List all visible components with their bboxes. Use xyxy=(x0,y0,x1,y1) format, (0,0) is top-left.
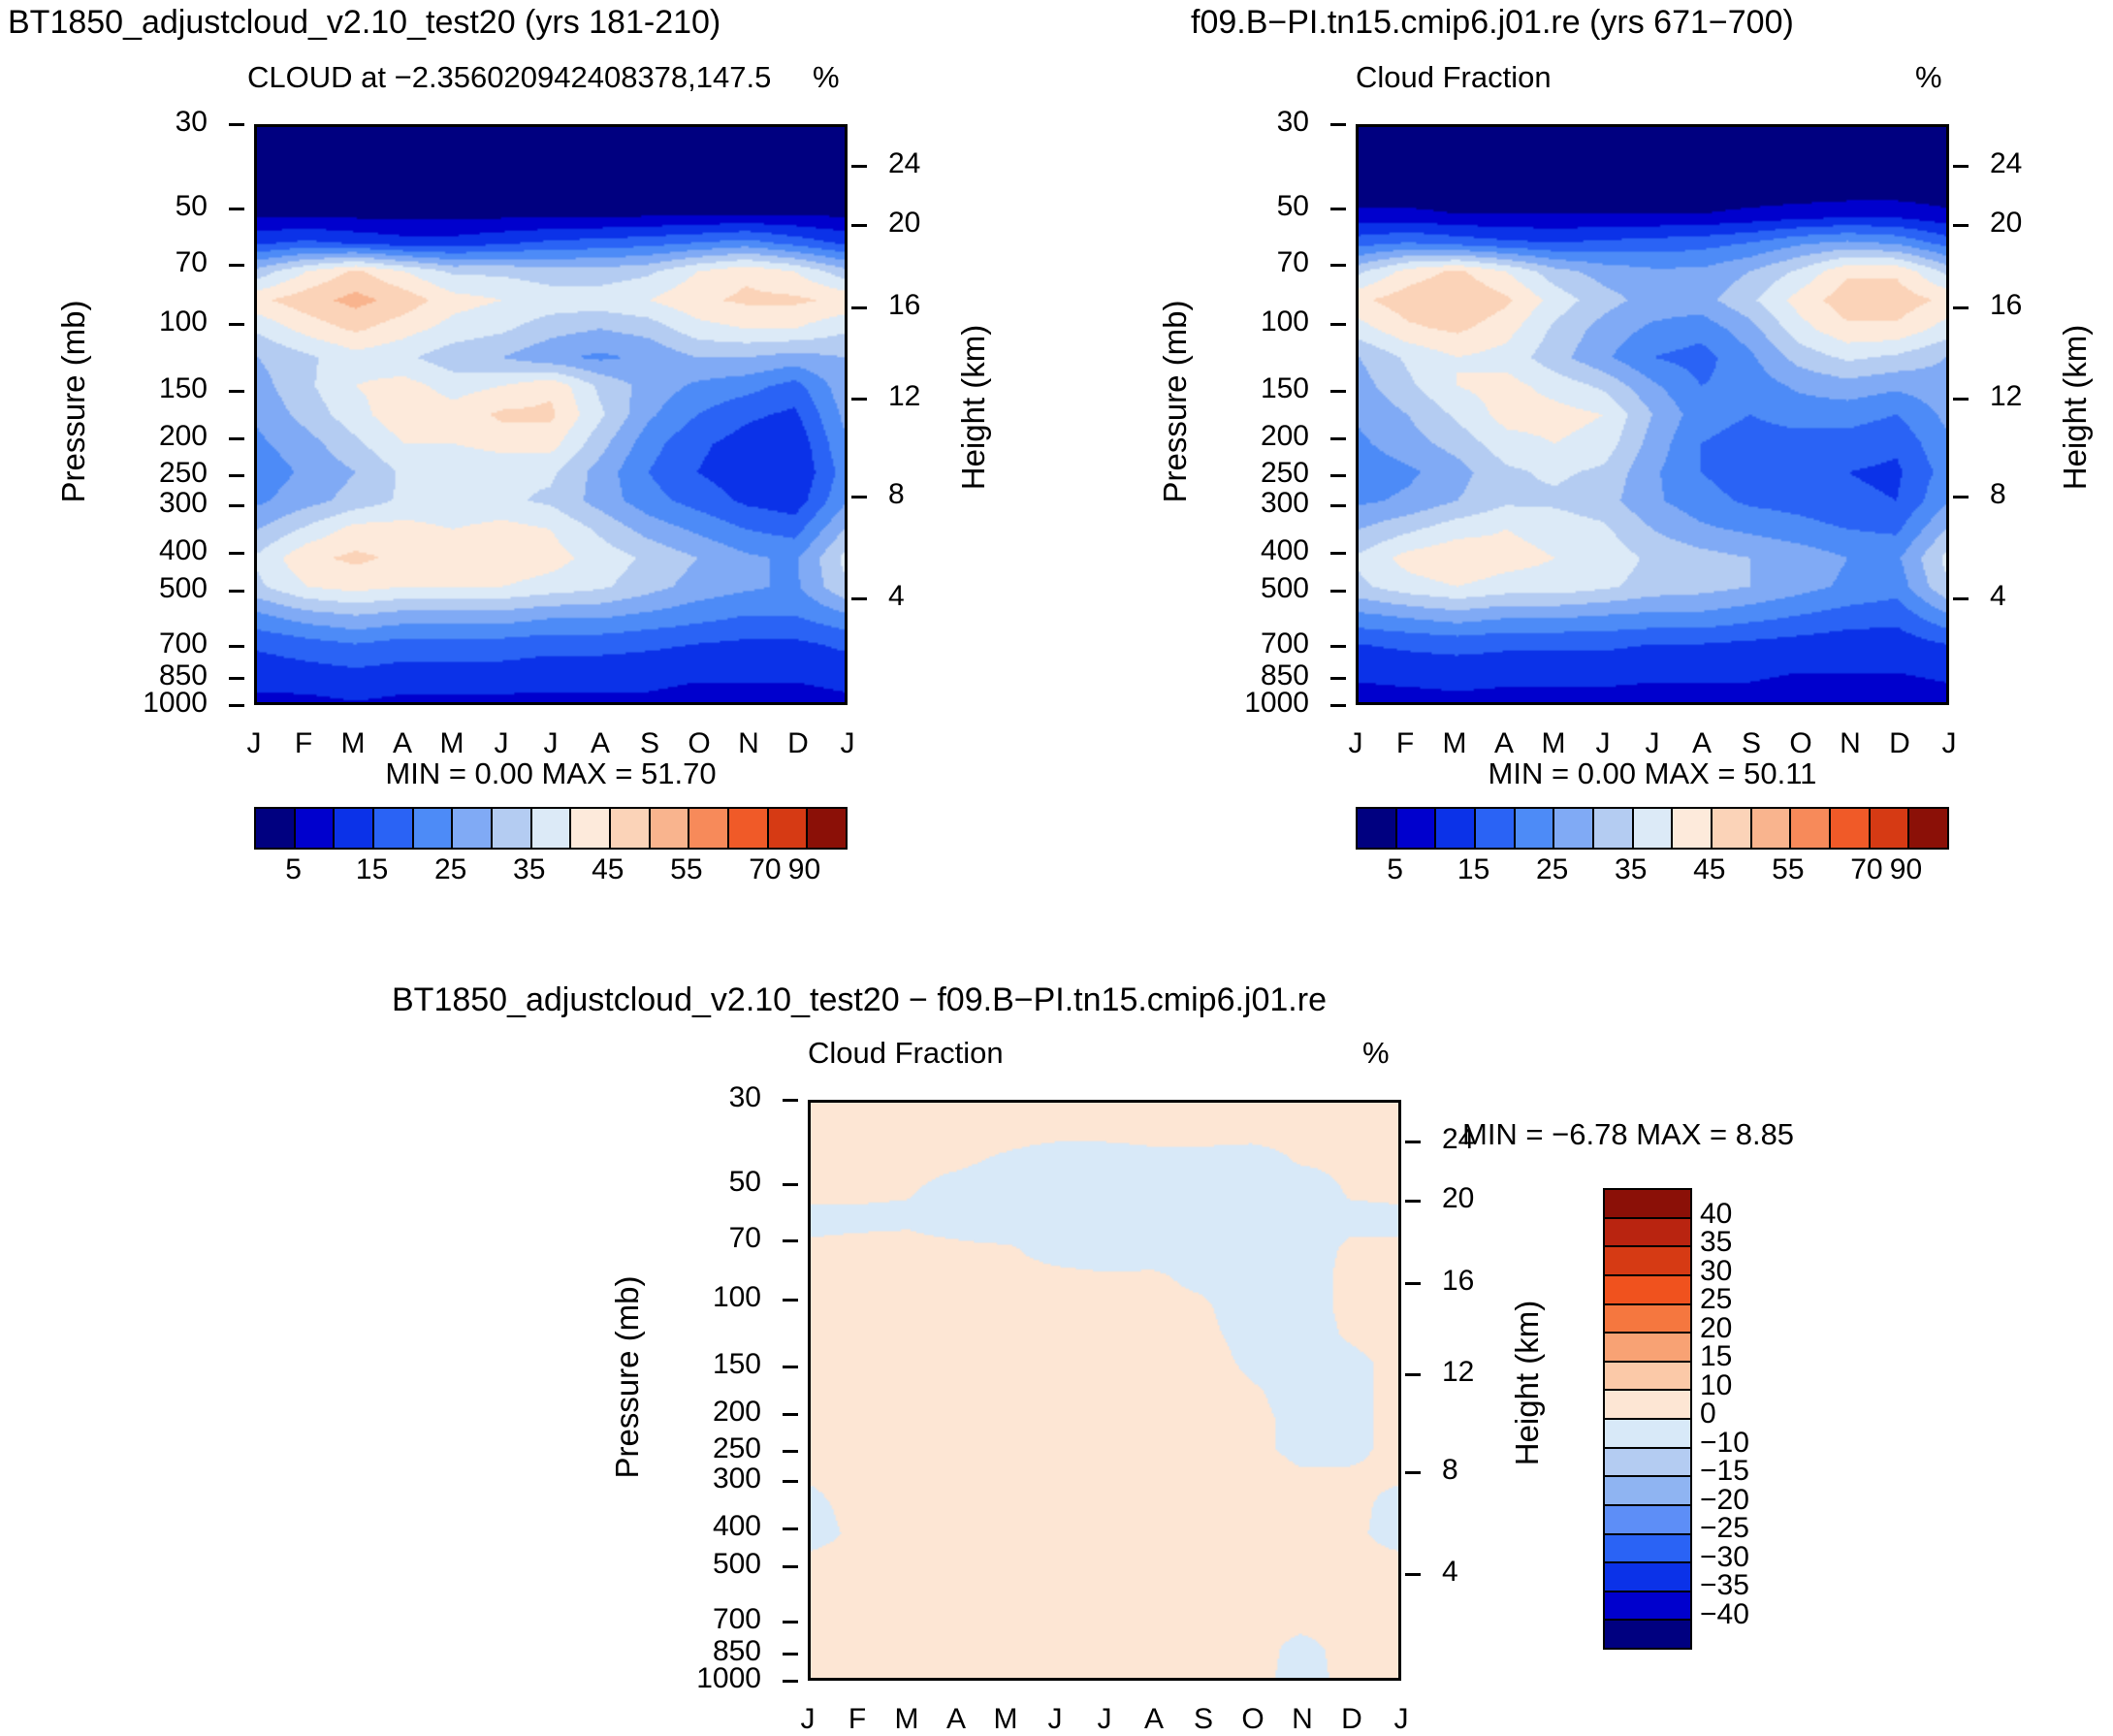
colorbar-swatch xyxy=(769,809,809,848)
colorbar-horizontal-top-right[interactable] xyxy=(1356,807,1949,850)
axis-tick xyxy=(696,124,699,125)
contour-field-bottom xyxy=(811,1103,1398,1678)
axis-tick xyxy=(844,124,847,125)
axis-tick xyxy=(794,124,797,125)
colorbar-swatch xyxy=(689,809,729,848)
plot-area-top-left[interactable] xyxy=(254,124,848,705)
axis-tick xyxy=(229,208,244,210)
month-tick-label: J xyxy=(1098,1703,1112,1736)
axis-tick-label: 400 xyxy=(713,1510,761,1543)
axis-tick-label: 24 xyxy=(888,147,920,180)
colorbar-tick-label: 25 xyxy=(434,853,466,886)
axis-tick-label: 4 xyxy=(1990,580,2006,613)
axis-tick xyxy=(452,124,455,125)
colorbar-tick-label: 15 xyxy=(356,853,388,886)
axis-tick-label: 12 xyxy=(1990,380,2022,413)
month-tick-label: F xyxy=(295,727,312,760)
axis-tick-label: 500 xyxy=(159,572,208,605)
axis-tick xyxy=(1330,704,1346,707)
axis-tick xyxy=(1798,704,1801,705)
axis-tick xyxy=(1201,1100,1204,1101)
colorbar-tick-label: 90 xyxy=(788,853,820,886)
axis-tick-label: 100 xyxy=(1261,305,1309,338)
axis-tick xyxy=(1953,496,1969,498)
axis-tick xyxy=(858,1680,861,1681)
colorbar-swatch xyxy=(1554,809,1594,848)
axis-tick xyxy=(1953,398,1969,401)
axis-tick xyxy=(229,552,244,555)
axis-tick xyxy=(229,323,244,326)
colorbar-swatch xyxy=(571,809,611,848)
colorbar-swatch xyxy=(1831,809,1871,848)
axis-tick xyxy=(1405,1573,1421,1576)
month-tick-label: D xyxy=(1341,1703,1362,1736)
axis-tick xyxy=(648,704,651,705)
axis-tick xyxy=(598,124,601,125)
axis-tick xyxy=(452,704,455,705)
axis-tick-label: 8 xyxy=(1990,478,2006,511)
axis-tick xyxy=(1504,704,1507,705)
month-tick-label: A xyxy=(1144,1703,1164,1736)
axis-tick xyxy=(354,704,357,705)
axis-tick xyxy=(1953,224,1969,227)
colorbar-swatch xyxy=(1605,1477,1690,1506)
axis-tick-label: 500 xyxy=(713,1548,761,1581)
axis-tick-label: 20 xyxy=(1442,1182,1474,1215)
colorbar-swatch xyxy=(1909,809,1947,848)
colorbar-horizontal-top-left[interactable] xyxy=(254,807,848,850)
contour-field-top-right xyxy=(1359,127,1946,702)
axis-tick-label: 70 xyxy=(176,246,208,279)
axis-tick-label: 30 xyxy=(1277,106,1309,139)
axis-tick xyxy=(1405,1200,1421,1203)
month-tick-label: J xyxy=(1394,1703,1409,1736)
axis-tick xyxy=(1358,124,1361,125)
month-tick-label: M xyxy=(341,727,366,760)
month-tick-label: J xyxy=(1942,727,1957,760)
axis-tick xyxy=(1953,165,1969,168)
axis-tick xyxy=(851,398,867,401)
colorbar-swatch xyxy=(1605,1621,1690,1648)
panel-bottom-title: BT1850_adjustcloud_v2.10_test20 − f09.B−… xyxy=(392,981,1327,1019)
pressure-axis-bottom: 3050701001502002503004005007008501000 xyxy=(699,1100,783,1681)
colorbar-swatch xyxy=(1476,809,1516,848)
month-tick-label: O xyxy=(1241,1703,1264,1736)
axis-tick xyxy=(229,437,244,440)
axis-tick xyxy=(956,1100,959,1101)
axis-tick xyxy=(402,124,405,125)
axis-tick-label: 16 xyxy=(888,289,920,322)
colorbar-swatch xyxy=(1605,1190,1690,1219)
axis-tick xyxy=(1896,704,1899,705)
panel-top-right-title: f09.B−PI.tn15.cmip6.j01.re (yrs 671−700) xyxy=(1191,4,1794,42)
axis-left-title-top-left: Pressure (mb) xyxy=(55,300,92,502)
colorbar-tick-label: 35 xyxy=(513,853,545,886)
colorbar-swatch xyxy=(651,809,690,848)
colorbar-swatch xyxy=(414,809,454,848)
axis-tick-label: 4 xyxy=(1442,1556,1458,1589)
axis-tick xyxy=(1945,124,1948,125)
colorbar-swatch xyxy=(1605,1247,1690,1276)
colorbar-tick-label: −40 xyxy=(1700,1598,1749,1631)
axis-tick xyxy=(1651,704,1654,705)
axis-tick xyxy=(783,1480,798,1483)
month-tick-label: J xyxy=(1596,727,1611,760)
axis-tick xyxy=(402,704,405,705)
month-tick-label: S xyxy=(640,727,659,760)
axis-tick xyxy=(229,264,244,267)
axis-tick xyxy=(783,1413,798,1416)
axis-tick xyxy=(794,704,797,705)
axis-tick xyxy=(1330,590,1346,593)
axis-tick xyxy=(851,496,867,498)
colorbar-swatch xyxy=(296,809,336,848)
axis-tick xyxy=(1553,704,1556,705)
axis-tick-label: 8 xyxy=(888,478,905,511)
colorbar-swatch xyxy=(1516,809,1555,848)
axis-tick xyxy=(256,124,259,125)
month-tick-label: M xyxy=(440,727,464,760)
axis-tick xyxy=(1847,124,1850,125)
axis-tick xyxy=(1330,474,1346,477)
axis-tick-label: 1000 xyxy=(696,1662,761,1695)
colorbar-swatch xyxy=(1791,809,1831,848)
colorbar-swatch xyxy=(611,809,651,848)
axis-tick xyxy=(1700,124,1703,125)
axis-tick xyxy=(1152,1100,1155,1101)
axis-tick-label: 200 xyxy=(159,420,208,453)
axis-tick xyxy=(500,704,503,705)
colorbar-swatch xyxy=(1673,809,1713,848)
axis-tick xyxy=(1348,1680,1351,1681)
colorbar-swatch xyxy=(1605,1506,1690,1535)
month-tick-label: J xyxy=(1349,727,1363,760)
colorbar-tick-label: 45 xyxy=(1693,853,1725,886)
axis-tick xyxy=(1405,1471,1421,1474)
axis-tick xyxy=(1250,1100,1253,1101)
colorbar-swatch xyxy=(1871,809,1910,848)
axis-tick-label: 300 xyxy=(159,487,208,520)
colorbar-swatch xyxy=(1605,1592,1690,1622)
axis-tick-label: 8 xyxy=(1442,1454,1458,1487)
axis-tick xyxy=(1330,323,1346,326)
colorbar-swatch xyxy=(1605,1535,1690,1564)
axis-tick xyxy=(229,590,244,593)
axis-tick xyxy=(783,1680,798,1683)
axis-tick xyxy=(1299,1100,1302,1101)
axis-tick xyxy=(256,704,259,705)
month-tick-label: J xyxy=(801,1703,816,1736)
axis-right-title-top-left: Height (km) xyxy=(955,325,992,491)
axis-tick xyxy=(844,704,847,705)
plot-area-top-right[interactable] xyxy=(1356,124,1949,705)
colorbar-tick-label: 15 xyxy=(1457,853,1489,886)
month-tick-label: O xyxy=(1789,727,1811,760)
axis-tick-label: 700 xyxy=(1261,627,1309,660)
axis-tick xyxy=(1896,124,1899,125)
axis-tick xyxy=(1651,124,1654,125)
height-axis-top-right: 2420161284 xyxy=(1969,124,2052,705)
axis-tick-label: 16 xyxy=(1442,1265,1474,1298)
axis-tick xyxy=(810,1680,813,1681)
axis-tick xyxy=(229,504,244,507)
month-tick-label: N xyxy=(738,727,759,760)
axis-tick xyxy=(1330,437,1346,440)
axis-tick xyxy=(304,124,307,125)
month-tick-label: A xyxy=(1494,727,1514,760)
axis-tick-label: 200 xyxy=(713,1396,761,1429)
axis-tick xyxy=(1798,124,1801,125)
axis-tick-label: 250 xyxy=(713,1432,761,1465)
axis-tick xyxy=(1602,704,1605,705)
axis-tick xyxy=(956,1680,959,1681)
colorbar-swatch xyxy=(1605,1563,1690,1592)
panel-top-right-units: % xyxy=(1915,60,1942,95)
colorbar-swatch xyxy=(1605,1391,1690,1420)
month-tick-label: F xyxy=(1396,727,1414,760)
panel-bottom-subtitle: Cloud Fraction xyxy=(808,1036,1004,1071)
axis-tick-label: 50 xyxy=(176,190,208,223)
colorbar-swatch xyxy=(1605,1449,1690,1478)
axis-tick xyxy=(783,1239,798,1242)
colorbar-swatch xyxy=(1605,1305,1690,1334)
colorbar-swatch xyxy=(1605,1363,1690,1392)
axis-tick xyxy=(1504,124,1507,125)
axis-tick-label: 1000 xyxy=(143,687,208,720)
month-tick-label: F xyxy=(848,1703,866,1736)
axis-tick xyxy=(858,1100,861,1101)
colorbar-tick-label: 45 xyxy=(592,853,624,886)
axis-tick xyxy=(229,677,244,680)
axis-tick xyxy=(810,1100,813,1101)
axis-tick-label: 30 xyxy=(176,106,208,139)
axis-tick xyxy=(746,124,749,125)
month-tick-label: A xyxy=(1692,727,1712,760)
axis-tick-label: 1000 xyxy=(1244,687,1309,720)
axis-tick xyxy=(1749,704,1752,705)
month-tick-label: A xyxy=(591,727,610,760)
axis-tick xyxy=(1330,504,1346,507)
axis-tick-label: 300 xyxy=(713,1463,761,1495)
axis-tick xyxy=(1330,123,1346,126)
axis-tick-label: 24 xyxy=(1990,147,2022,180)
month-tick-label: S xyxy=(1194,1703,1213,1736)
axis-tick xyxy=(1456,704,1458,705)
axis-tick-label: 400 xyxy=(1261,534,1309,567)
axis-tick xyxy=(1330,264,1346,267)
axis-tick-label: 500 xyxy=(1261,572,1309,605)
month-tick-label: M xyxy=(1443,727,1467,760)
axis-tick-label: 50 xyxy=(729,1166,761,1199)
pressure-axis-top-left: 3050701001502002503004005007008501000 xyxy=(145,124,229,705)
axis-tick xyxy=(1104,1680,1106,1681)
month-tick-label: N xyxy=(1840,727,1861,760)
axis-tick xyxy=(1397,1680,1400,1681)
axis-tick xyxy=(783,1527,798,1530)
axis-tick-label: 70 xyxy=(729,1222,761,1255)
axis-tick xyxy=(783,1621,798,1623)
colorbar-swatch xyxy=(1713,809,1752,848)
axis-tick-label: 16 xyxy=(1990,289,2022,322)
axis-tick xyxy=(1847,704,1850,705)
axis-tick xyxy=(1054,1100,1057,1101)
axis-tick xyxy=(1405,1141,1421,1143)
axis-tick-label: 250 xyxy=(1261,457,1309,490)
colorbar-swatch xyxy=(1605,1420,1690,1449)
panel-top-right-subtitle: Cloud Fraction xyxy=(1356,60,1552,95)
axis-tick-label: 4 xyxy=(888,580,905,613)
axis-tick xyxy=(1152,1680,1155,1681)
axis-tick xyxy=(1406,704,1409,705)
axis-tick-label: 12 xyxy=(1442,1356,1474,1389)
minmax-label-top-left: MIN = 0.00 MAX = 51.70 xyxy=(254,756,848,791)
axis-tick xyxy=(1006,1100,1008,1101)
month-tick-label: M xyxy=(994,1703,1018,1736)
axis-tick xyxy=(229,123,244,126)
colorbar-labels-top-left: 515253545557090 xyxy=(254,853,848,892)
axis-tick xyxy=(500,124,503,125)
colorbar-tick-label: 55 xyxy=(670,853,702,886)
colorbar-tick-label: 5 xyxy=(285,853,302,886)
axis-tick xyxy=(1953,597,1969,600)
colorbar-tick-label: 25 xyxy=(1536,853,1568,886)
axis-tick-label: 50 xyxy=(1277,190,1309,223)
axis-tick xyxy=(1330,645,1346,648)
axis-tick xyxy=(783,1450,798,1453)
colorbar-labels-top-right: 515253545557090 xyxy=(1356,853,1949,892)
height-axis-bottom: 2420161284 xyxy=(1421,1100,1504,1681)
height-axis-top-left: 2420161284 xyxy=(867,124,950,705)
axis-tick xyxy=(1358,704,1361,705)
axis-tick-label: 700 xyxy=(159,627,208,660)
colorbar-swatch xyxy=(1634,809,1674,848)
colorbar-swatch xyxy=(374,809,414,848)
axis-tick xyxy=(229,474,244,477)
axis-tick-label: 12 xyxy=(888,380,920,413)
axis-left-title-bottom: Pressure (mb) xyxy=(609,1275,646,1478)
axis-tick xyxy=(1104,1100,1106,1101)
minmax-label-top-right: MIN = 0.00 MAX = 50.11 xyxy=(1356,756,1949,791)
axis-tick xyxy=(783,1565,798,1568)
axis-tick xyxy=(783,1183,798,1186)
axis-tick-label: 150 xyxy=(713,1348,761,1381)
axis-tick-label: 20 xyxy=(888,207,920,240)
axis-tick-label: 70 xyxy=(1277,246,1309,279)
axis-tick xyxy=(1330,552,1346,555)
axis-tick xyxy=(851,224,867,227)
month-tick-label: J xyxy=(1646,727,1660,760)
month-tick-label: M xyxy=(1542,727,1566,760)
axis-tick xyxy=(1348,1100,1351,1101)
colorbar-swatch xyxy=(729,809,769,848)
colorbar-tick-label: 5 xyxy=(1387,853,1403,886)
axis-tick xyxy=(1006,1680,1008,1681)
colorbar-swatch xyxy=(1605,1334,1690,1363)
colorbar-swatch xyxy=(532,809,572,848)
axis-tick xyxy=(598,704,601,705)
plot-area-bottom[interactable] xyxy=(808,1100,1401,1681)
axis-tick-label: 200 xyxy=(1261,420,1309,453)
axis-tick xyxy=(1456,124,1458,125)
colorbar-tick-label: 70 xyxy=(749,853,781,886)
axis-tick xyxy=(648,124,651,125)
axis-tick xyxy=(1602,124,1605,125)
month-tick-label: A xyxy=(946,1703,966,1736)
axis-tick xyxy=(1330,390,1346,393)
panel-top-left-title: BT1850_adjustcloud_v2.10_test20 (yrs 181… xyxy=(8,4,720,42)
axis-tick-label: 30 xyxy=(729,1081,761,1114)
axis-tick-label: 20 xyxy=(1990,207,2022,240)
month-tick-label: J xyxy=(841,727,855,760)
month-tick-label: O xyxy=(688,727,710,760)
month-tick-label: J xyxy=(1048,1703,1063,1736)
axis-tick-label: 150 xyxy=(159,372,208,405)
axis-tick-label: 400 xyxy=(159,534,208,567)
colorbar-swatch xyxy=(453,809,493,848)
axis-tick xyxy=(851,165,867,168)
colorbar-swatch xyxy=(808,809,846,848)
axis-tick xyxy=(550,124,553,125)
month-tick-label: J xyxy=(544,727,559,760)
colorbar-vertical-bottom[interactable] xyxy=(1603,1188,1692,1650)
month-tick-label: D xyxy=(1889,727,1910,760)
axis-tick xyxy=(1406,124,1409,125)
colorbar-tick-label: 70 xyxy=(1850,853,1882,886)
month-tick-label: J xyxy=(247,727,262,760)
axis-tick xyxy=(851,306,867,309)
axis-tick xyxy=(1405,1373,1421,1376)
colorbar-swatch xyxy=(1594,809,1634,848)
axis-tick-label: 100 xyxy=(159,305,208,338)
axis-tick xyxy=(1299,1680,1302,1681)
colorbar-tick-label: 90 xyxy=(1890,853,1922,886)
axis-tick xyxy=(1201,1680,1204,1681)
axis-tick-label: 100 xyxy=(713,1281,761,1314)
axis-tick xyxy=(354,124,357,125)
axis-tick xyxy=(1054,1680,1057,1681)
colorbar-swatch xyxy=(1605,1219,1690,1248)
colorbar-swatch xyxy=(335,809,374,848)
axis-tick xyxy=(1250,1680,1253,1681)
axis-right-title-top-right: Height (km) xyxy=(2057,325,2094,491)
pressure-axis-top-right: 3050701001502002503004005007008501000 xyxy=(1247,124,1330,705)
axis-tick xyxy=(851,597,867,600)
colorbar-tick-label: 35 xyxy=(1615,853,1647,886)
axis-tick xyxy=(1330,208,1346,210)
panel-top-left-subtitle: CLOUD at −2.356020942408378,147.5 xyxy=(247,60,771,95)
axis-tick xyxy=(229,704,244,707)
colorbar-swatch xyxy=(1605,1276,1690,1305)
axis-tick xyxy=(229,645,244,648)
axis-tick xyxy=(696,704,699,705)
axis-tick xyxy=(1405,1282,1421,1285)
axis-tick xyxy=(1700,704,1703,705)
axis-tick-label: 150 xyxy=(1261,372,1309,405)
month-tick-label: M xyxy=(895,1703,919,1736)
axis-tick xyxy=(783,1653,798,1656)
axis-tick xyxy=(229,390,244,393)
axis-tick xyxy=(783,1366,798,1368)
axis-tick xyxy=(1953,306,1969,309)
month-tick-label: N xyxy=(1292,1703,1313,1736)
axis-tick xyxy=(908,1100,911,1101)
month-tick-label: D xyxy=(787,727,809,760)
axis-left-title-top-right: Pressure (mb) xyxy=(1157,300,1194,502)
axis-tick xyxy=(908,1680,911,1681)
contour-field-top-left xyxy=(257,127,845,702)
axis-tick xyxy=(746,704,749,705)
minmax-label-bottom: MIN = −6.78 MAX = 8.85 xyxy=(1462,1117,1794,1152)
